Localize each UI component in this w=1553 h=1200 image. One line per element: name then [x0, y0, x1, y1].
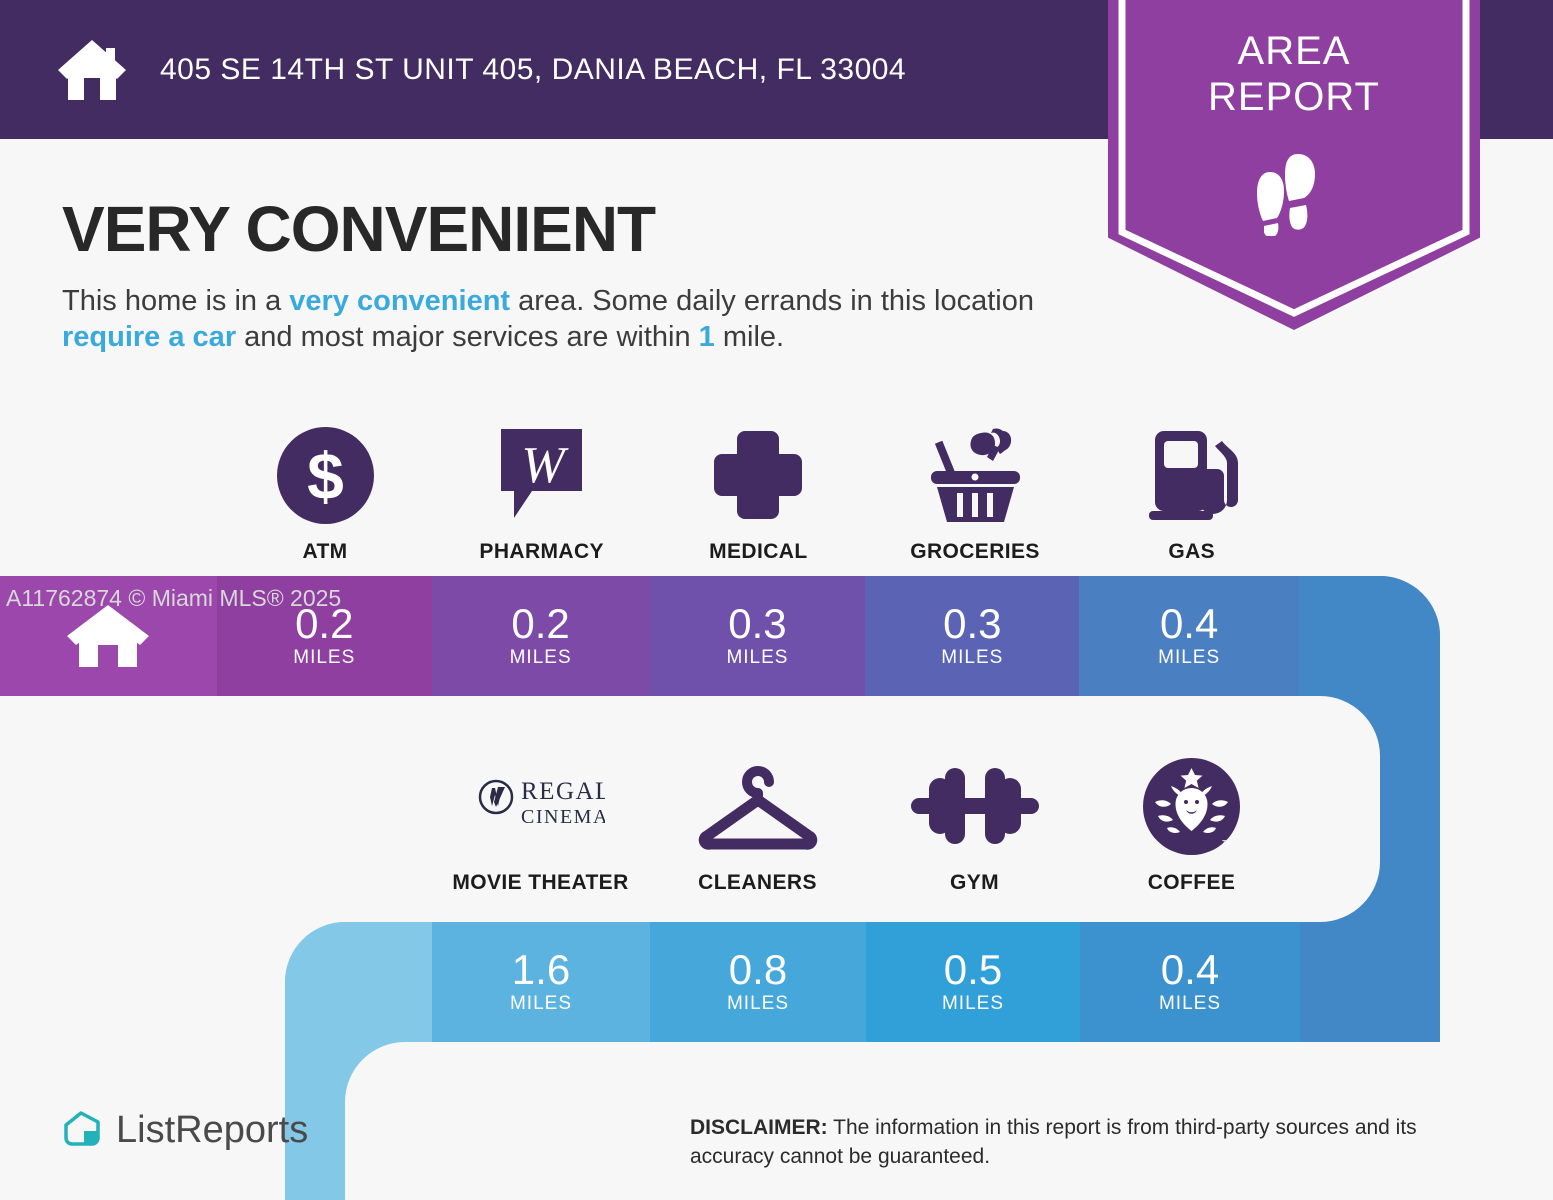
amenity-gym: GYM — [866, 755, 1083, 895]
distance-unit: MILES — [942, 992, 1004, 1016]
amenity-atm: $ ATM — [217, 424, 434, 564]
distance-unit: MILES — [510, 646, 572, 670]
clothes-hanger-icon — [697, 755, 819, 857]
grocery-basket-icon — [923, 424, 1028, 526]
amenity-label: COFFEE — [1148, 871, 1236, 895]
footprints-icon — [1248, 150, 1340, 236]
distance-unit: MILES — [726, 646, 788, 670]
amenity-label: ATM — [302, 540, 347, 564]
summary-text: This home is in a very convenient area. … — [62, 283, 1092, 355]
distance-value: 0.3 — [728, 602, 786, 646]
disclaimer-label: DISCLAIMER: — [690, 1116, 828, 1139]
amenity-label: GROCERIES — [910, 540, 1040, 564]
listreports-label: ListReports — [116, 1109, 308, 1152]
amenity-movie-theater: REGAL CINEMAS MOVIE THEATER — [432, 755, 649, 895]
amenity-medical: MEDICAL — [650, 424, 867, 564]
distance-value: 0.5 — [944, 948, 1002, 992]
amenity-coffee: TM COFFEE — [1083, 755, 1300, 895]
area-report-page: 405 SE 14TH ST UNIT 405, DANIA BEACH, FL… — [0, 0, 1553, 1200]
distance-cell-movie-theater: 1.6 MILES — [432, 922, 650, 1042]
walgreens-w-icon: W — [499, 424, 584, 526]
amenity-pharmacy: W PHARMACY — [433, 424, 650, 564]
badge-line-1: AREA — [1108, 28, 1480, 74]
distance-value: 0.3 — [943, 602, 1001, 646]
listreports-logo: ListReports — [60, 1108, 308, 1152]
house-icon — [56, 38, 128, 102]
amenity-label: GYM — [950, 871, 999, 895]
distance-band-bottom: 1.6 MILES 0.8 MILES 0.5 MILES 0.4 MILES — [285, 922, 1440, 1042]
distance-unit: MILES — [293, 646, 355, 670]
dumbbell-icon — [911, 755, 1039, 857]
summary-part-2: area. Some daily errands in this locatio… — [510, 285, 1034, 317]
badge-line-2: REPORT — [1108, 74, 1480, 120]
distance-cell-gym: 0.5 MILES — [866, 922, 1080, 1042]
dollar-circle-icon: $ — [277, 424, 374, 526]
amenity-gas: GAS — [1083, 424, 1300, 564]
summary-part-4: mile. — [715, 321, 784, 353]
property-address: 405 SE 14TH ST UNIT 405, DANIA BEACH, FL… — [160, 53, 906, 87]
distance-value: 0.4 — [1160, 602, 1218, 646]
distance-cell-cleaners: 0.8 MILES — [650, 922, 866, 1042]
summary-highlight-2: require a car — [62, 321, 236, 353]
area-report-badge: AREA REPORT — [1108, 0, 1480, 330]
distance-unit: MILES — [1158, 646, 1220, 670]
svg-text:TM: TM — [1222, 840, 1232, 847]
amenity-spacer — [0, 424, 217, 564]
distance-cell-gas: 0.4 MILES — [1079, 576, 1299, 696]
summary-part-3: and most major services are within — [236, 321, 699, 353]
amenity-label: PHARMACY — [479, 540, 604, 564]
svg-text:REGAL: REGAL — [521, 778, 605, 805]
gas-pump-icon — [1143, 424, 1241, 526]
summary-part-1: This home is in a — [62, 285, 289, 317]
distance-unit: MILES — [1159, 992, 1221, 1016]
amenity-label: CLEANERS — [698, 871, 817, 895]
distance-cell-coffee: 0.4 MILES — [1080, 922, 1300, 1042]
amenity-icon-row-top: $ ATM W PHARMACY MEDICAL — [0, 424, 1300, 564]
page-title: VERY CONVENIENT — [62, 192, 655, 266]
svg-text:$: $ — [307, 439, 344, 513]
distance-unit: MILES — [510, 992, 572, 1016]
medical-cross-icon — [712, 424, 804, 526]
distance-unit: MILES — [941, 646, 1003, 670]
distance-unit: MILES — [727, 992, 789, 1016]
amenity-label: MEDICAL — [709, 540, 807, 564]
ribbon-left-tail — [285, 922, 432, 1200]
distance-value: 0.4 — [1161, 948, 1219, 992]
mls-watermark: A11762874 © Miami MLS® 2025 — [6, 585, 341, 612]
starbucks-icon: TM — [1143, 755, 1240, 857]
summary-highlight-3: 1 — [699, 321, 715, 353]
distance-cell-medical: 0.3 MILES — [650, 576, 866, 696]
distance-value: 1.6 — [512, 948, 570, 992]
amenity-icon-row-bottom: REGAL CINEMAS MOVIE THEATER CLEANERS — [432, 755, 1300, 895]
listreports-house-tag-icon — [60, 1108, 104, 1152]
band-bottom-tail — [1300, 922, 1440, 1042]
disclaimer: DISCLAIMER: The information in this repo… — [690, 1113, 1502, 1171]
badge-title: AREA REPORT — [1108, 28, 1480, 120]
distance-value: 0.2 — [511, 602, 569, 646]
distance-value: 0.8 — [729, 948, 787, 992]
svg-text:W: W — [522, 437, 570, 494]
distance-cell-pharmacy: 0.2 MILES — [432, 576, 650, 696]
summary-highlight-1: very convenient — [289, 285, 510, 317]
regal-cinemas-icon: REGAL CINEMAS — [477, 755, 605, 857]
amenity-cleaners: CLEANERS — [649, 755, 866, 895]
distance-cell-groceries: 0.3 MILES — [865, 576, 1079, 696]
amenity-label: GAS — [1168, 540, 1215, 564]
amenity-label: MOVIE THEATER — [452, 871, 628, 895]
svg-text:CINEMAS: CINEMAS — [521, 806, 605, 828]
amenity-groceries: GROCERIES — [867, 424, 1084, 564]
house-icon — [65, 603, 151, 669]
